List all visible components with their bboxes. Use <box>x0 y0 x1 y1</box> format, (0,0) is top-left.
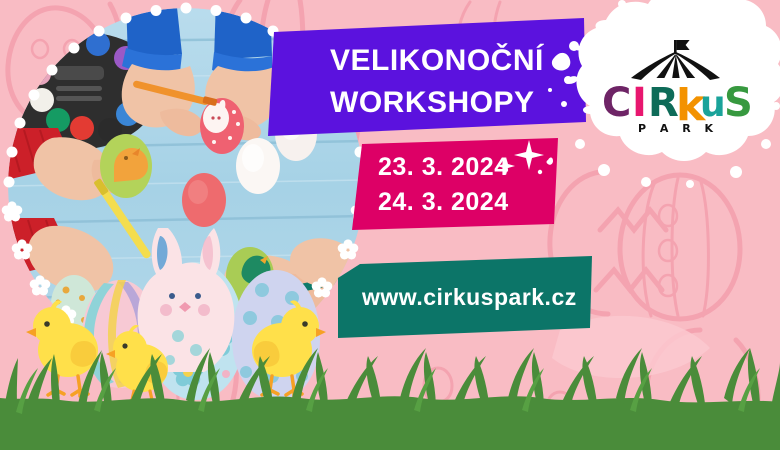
headline-text: VELIKONOČNÍ WORKSHOPY <box>330 40 544 124</box>
logo-letter-I: I <box>632 80 647 126</box>
logo-letter-C: C <box>602 80 631 126</box>
headline-line-1: VELIKONOČNÍ <box>330 40 544 82</box>
grass-foreground <box>0 340 780 450</box>
logo-letter-S: S <box>724 80 753 126</box>
date-line-1: 23. 3. 2024 <box>378 150 509 185</box>
headline-line-2: WORKSHOPY <box>330 82 544 124</box>
cirkus-park-logo[interactable]: C I R k u S P A R K <box>596 36 756 136</box>
headline-ribbon: VELIKONOČNÍ WORKSHOPY <box>268 18 598 136</box>
poster-canvas: VELIKONOČNÍ WORKSHOPY 23. 3. 2024 24. 3.… <box>0 0 780 450</box>
logo-subtitle: P A R K <box>638 122 718 135</box>
circus-tent-icon <box>631 40 720 80</box>
logo-letter-R: R <box>648 80 679 126</box>
logo-letter-u: u <box>700 84 726 125</box>
